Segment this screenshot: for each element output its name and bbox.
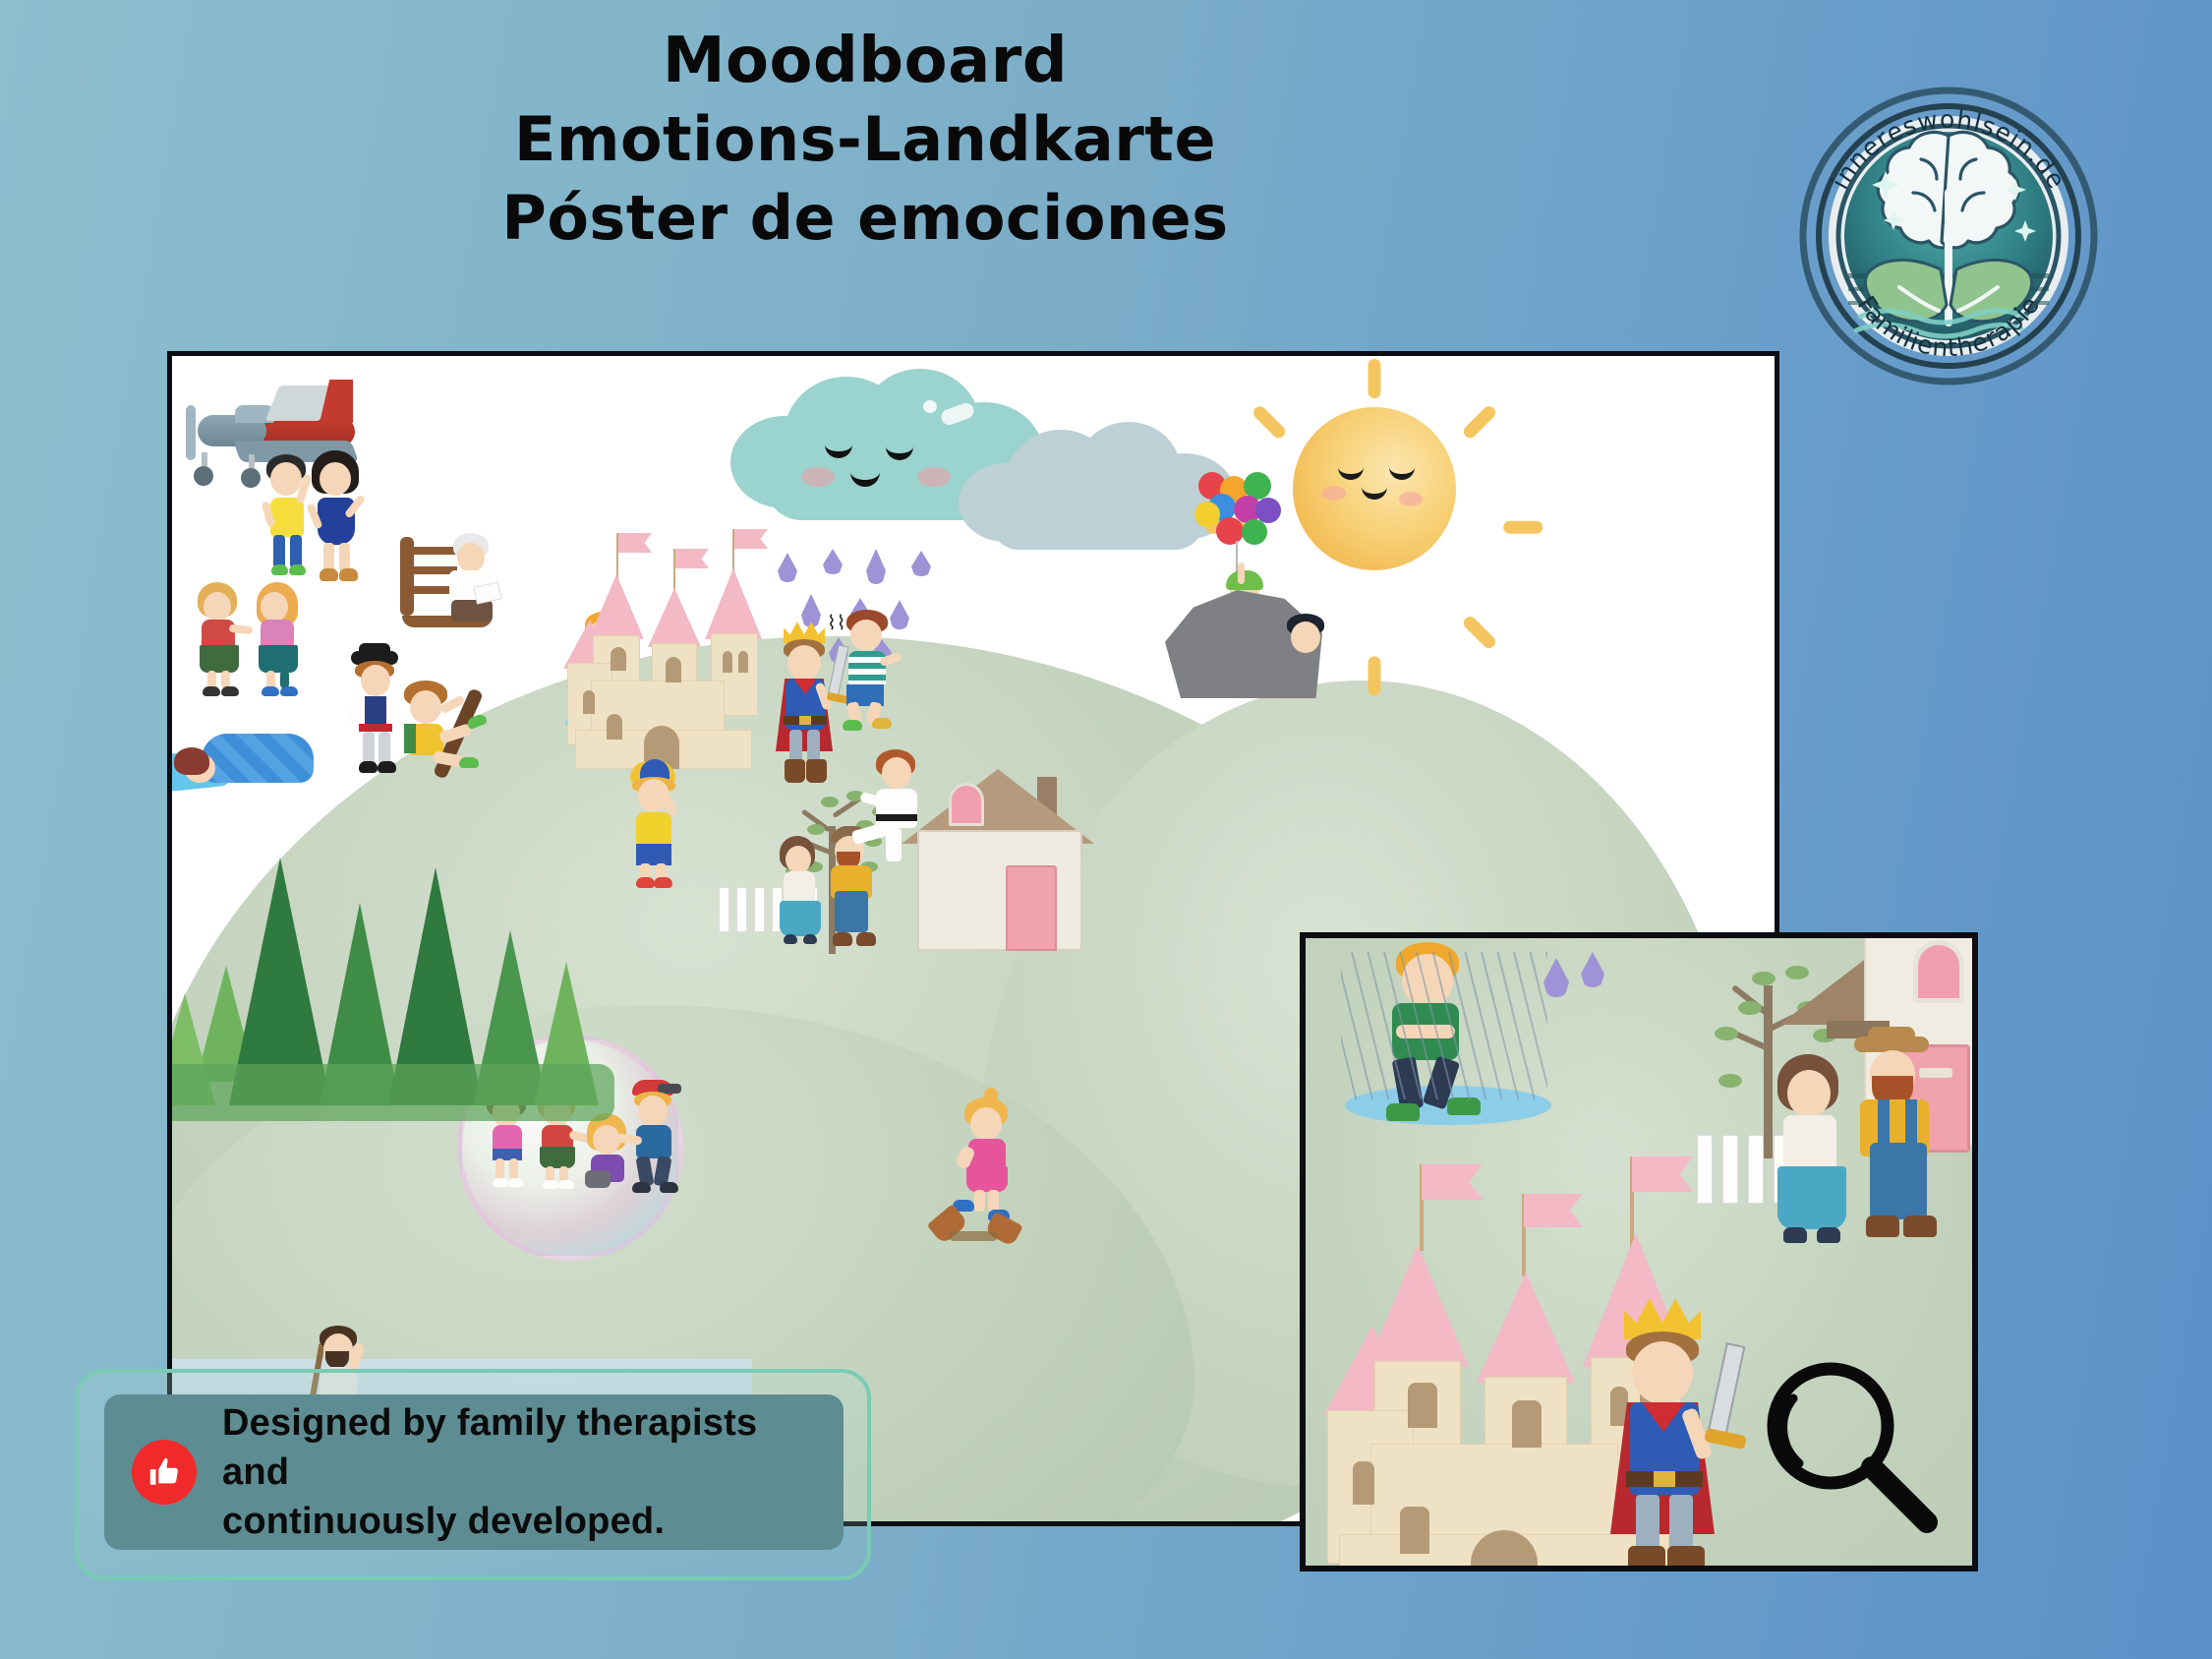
angry-girl-flowerpot (955, 1096, 1043, 1223)
badge-line-1: Designed by family therapists and (222, 1402, 757, 1493)
thumbs-up-icon (132, 1440, 197, 1505)
page-title: Moodboard Emotions-Landkarte Póster de e… (0, 22, 1730, 258)
boy-in-puddle-zoom (1351, 942, 1528, 1139)
girl-waving (310, 450, 378, 603)
girl-listening (253, 582, 318, 700)
badge-line-2: continuously developed. (222, 1501, 665, 1542)
title-line-2: Emotions-Landkarte (0, 100, 1730, 179)
sleeping-child (167, 730, 320, 799)
boy-hiding-behind-rock (1285, 614, 1334, 663)
badge-outline: Designed by family therapists and contin… (75, 1369, 871, 1580)
designed-by-badge[interactable]: Designed by family therapists and contin… (104, 1394, 844, 1550)
girl-shouting (194, 582, 259, 700)
zoom-detail-panel[interactable] (1300, 932, 1978, 1571)
grandmother-rocking-chair (398, 533, 506, 646)
boy-swinging-rope (400, 681, 508, 799)
boy-on-rock: ⌇⌇ (841, 610, 919, 728)
father-zoom (1848, 1035, 1966, 1261)
title-line-1: Moodboard (0, 22, 1730, 100)
magnifying-glass-icon[interactable] (1750, 1347, 1947, 1544)
title-line-3: Póster de emociones (0, 179, 1730, 258)
raindrop-zoom (1581, 952, 1604, 987)
crying-boy-cap (626, 761, 705, 889)
karate-girl (860, 749, 949, 867)
child-red-cap (630, 1080, 691, 1198)
badge-text: Designed by family therapists and contin… (222, 1398, 816, 1546)
brand-logo[interactable]: innereswohlsein.de Familientherapie (1791, 77, 2106, 391)
